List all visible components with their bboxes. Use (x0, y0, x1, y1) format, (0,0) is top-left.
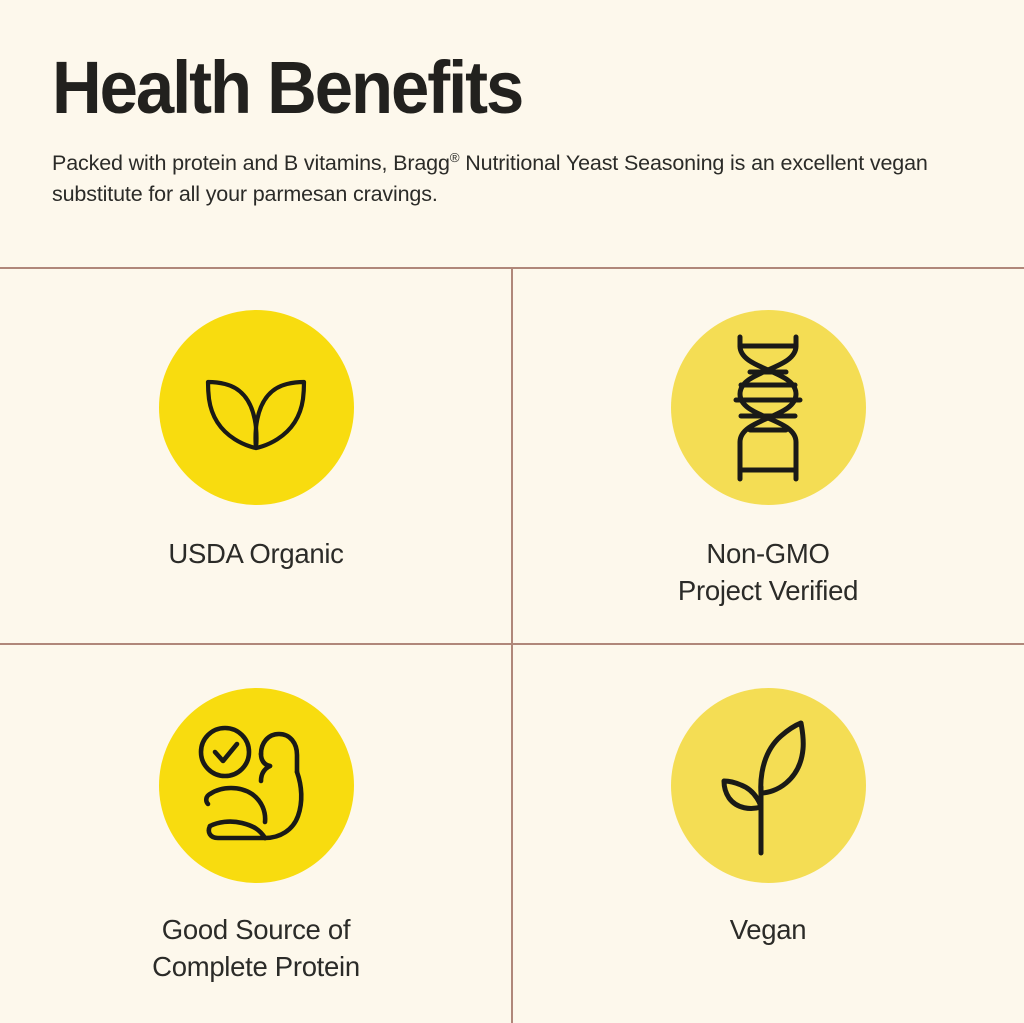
benefit-badge-vegan (671, 688, 866, 883)
benefit-badge-complete-protein (159, 688, 354, 883)
dna-helix-icon (723, 332, 813, 484)
benefit-label-vegan: Vegan (730, 912, 807, 949)
header: Health Benefits Packed with protein and … (0, 0, 1024, 268)
plant-sprout-icon (713, 715, 823, 857)
benefit-card-usda-organic: USDA Organic (0, 268, 512, 644)
benefit-card-complete-protein: Good Source of Complete Protein (0, 644, 512, 1023)
two-leaves-icon (197, 363, 315, 453)
benefit-label-non-gmo: Non-GMO Project Verified (678, 536, 858, 609)
page-subtitle: Packed with protein and B vitamins, Brag… (52, 148, 972, 209)
subtitle-text-part-1: Packed with protein and B vitamins, Brag… (52, 151, 450, 175)
benefits-grid: USDA Organic (0, 268, 1024, 1023)
benefit-badge-usda-organic (159, 310, 354, 505)
benefit-badge-non-gmo (671, 310, 866, 505)
benefit-label-complete-protein: Good Source of Complete Protein (152, 912, 360, 985)
benefit-card-vegan: Vegan (512, 644, 1024, 1023)
health-benefits-panel: Health Benefits Packed with protein and … (0, 0, 1024, 1023)
benefit-card-non-gmo: Non-GMO Project Verified (512, 268, 1024, 644)
page-title: Health Benefits (52, 54, 908, 122)
benefit-label-usda-organic: USDA Organic (168, 536, 343, 573)
flexed-bicep-check-icon (192, 724, 320, 848)
